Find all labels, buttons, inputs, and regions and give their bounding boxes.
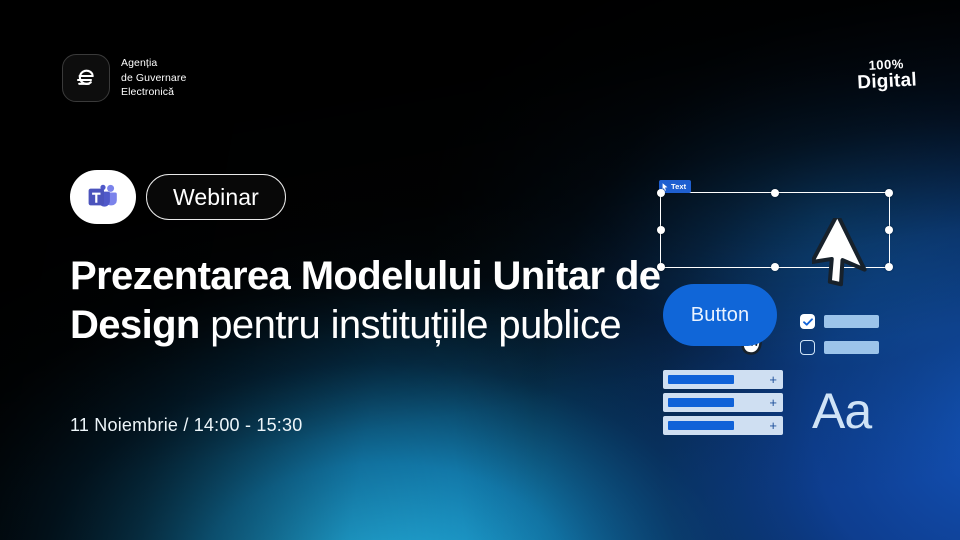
webinar-badge-label: Webinar <box>173 184 259 211</box>
headline-light: pentru instituțiile publice <box>200 303 621 347</box>
event-badge-row: Webinar <box>70 170 286 224</box>
agency-logo: Agenția de Guvernare Electronică <box>62 54 186 102</box>
age-emblem-icon <box>62 54 110 102</box>
campaign-logo-bottom: Digital <box>856 69 917 93</box>
webinar-badge: Webinar <box>146 174 286 220</box>
page-title: Prezentarea Modelului Unitar de Design p… <box>70 252 690 350</box>
agency-line-3: Electronică <box>121 85 186 100</box>
agency-line-2: de Guvernare <box>121 71 186 86</box>
campaign-logo: 100% Digital <box>856 56 917 93</box>
agency-line-1: Agenția <box>121 56 186 71</box>
microsoft-teams-icon <box>70 170 136 224</box>
webinar-promo-banner: Agenția de Guvernare Electronică 100% Di… <box>0 0 960 540</box>
event-datetime: 11 Noiembrie / 14:00 - 15:30 <box>70 415 302 436</box>
agency-logo-text: Agenția de Guvernare Electronică <box>121 56 186 101</box>
